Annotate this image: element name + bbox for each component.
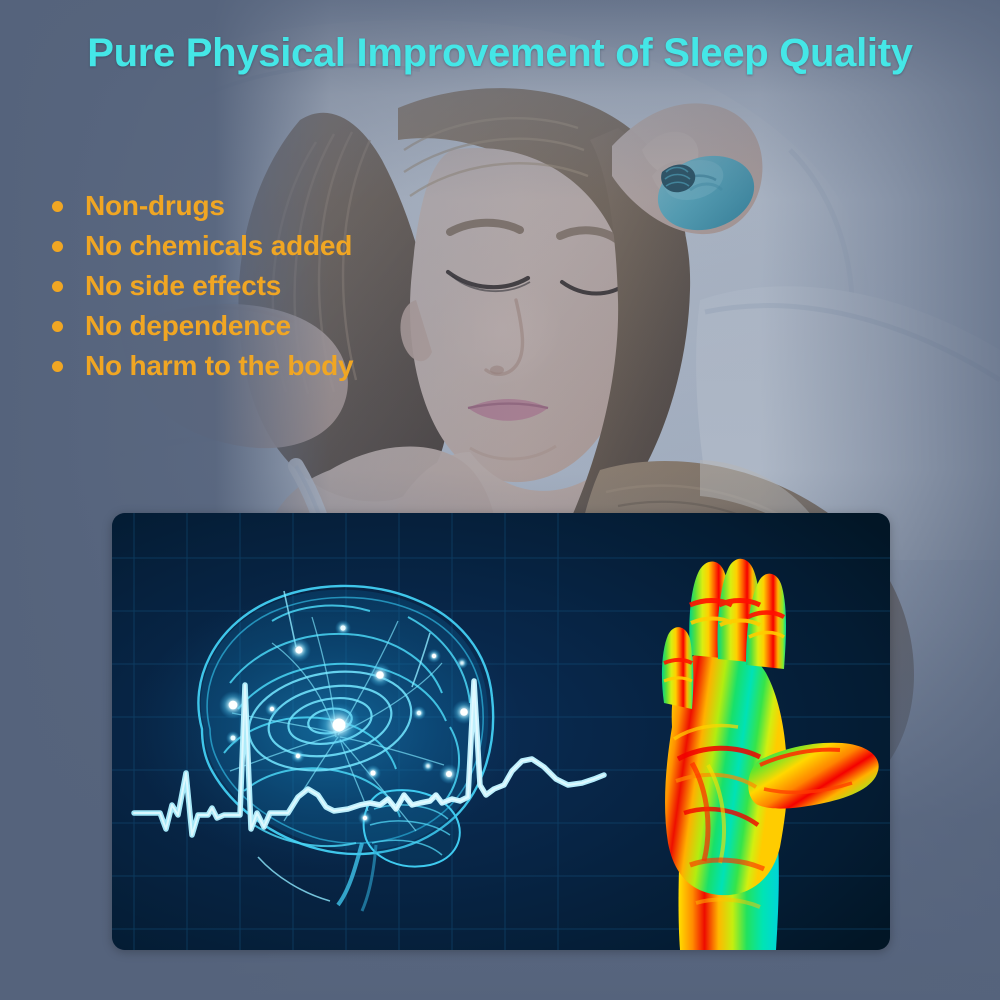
- bullet-dot-icon: [52, 241, 63, 252]
- bullet-dot-icon: [52, 361, 63, 372]
- list-item: No dependence: [52, 306, 482, 346]
- page-title: Pure Physical Improvement of Sleep Quali…: [0, 30, 1000, 76]
- list-item-label: No dependence: [85, 311, 291, 341]
- panel-illustration: [112, 513, 890, 950]
- bullet-dot-icon: [52, 321, 63, 332]
- list-item: No harm to the body: [52, 346, 482, 386]
- list-item-label: Non-drugs: [85, 191, 225, 221]
- list-item: No side effects: [52, 266, 482, 306]
- list-item-label: No chemicals added: [85, 231, 352, 261]
- list-item-label: No side effects: [85, 271, 281, 301]
- brain-thermal-panel: [112, 513, 890, 950]
- bullet-dot-icon: [52, 281, 63, 292]
- poster-canvas: Pure Physical Improvement of Sleep Quali…: [0, 0, 1000, 1000]
- list-item: No chemicals added: [52, 226, 482, 266]
- list-item: Non-drugs: [52, 186, 482, 226]
- benefits-list: Non-drugs No chemicals added No side eff…: [52, 186, 482, 386]
- bullet-dot-icon: [52, 201, 63, 212]
- list-item-label: No harm to the body: [85, 351, 353, 381]
